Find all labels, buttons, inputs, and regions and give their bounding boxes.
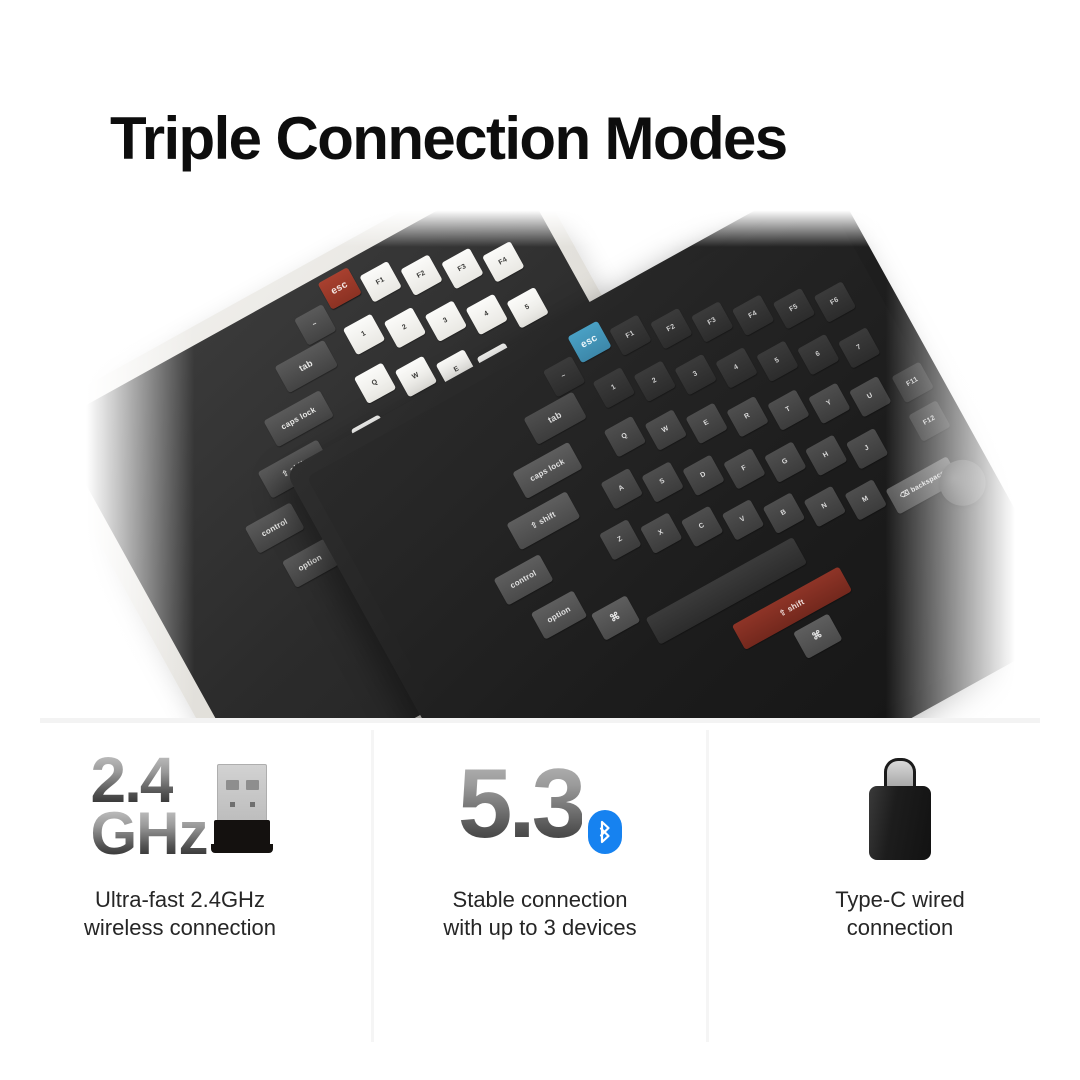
keycap: F3 xyxy=(691,301,734,343)
keycap-control-black: control xyxy=(494,554,554,605)
feature-row: 2.4 GHz Ultra-fast 2.4GHz wireless conne… xyxy=(0,740,1080,1040)
keycap-tab-black: tab xyxy=(523,392,587,445)
keycap: F2 xyxy=(400,254,443,296)
keycap: U xyxy=(849,376,892,418)
feature-art-bluetooth: 5.3 xyxy=(458,740,622,860)
usb-a-dongle-icon xyxy=(214,764,270,856)
keycap-capslock-black: caps lock xyxy=(512,442,583,499)
keycap: R xyxy=(726,396,769,438)
usb-c-plug-icon xyxy=(869,758,931,860)
keycap: 2 xyxy=(384,307,427,349)
keycap: M xyxy=(844,479,887,521)
keycap: 4 xyxy=(465,294,508,336)
value-24ghz-unit: GHz xyxy=(91,808,208,860)
keycap: N xyxy=(804,486,847,528)
feature-art-type-c xyxy=(869,740,931,860)
keycap: F xyxy=(723,448,766,490)
keycap: A xyxy=(600,468,643,510)
feature-wifi-24ghz: 2.4 GHz Ultra-fast 2.4GHz wireless conne… xyxy=(0,740,360,1040)
keycap: F4 xyxy=(732,294,775,336)
keycap: F5 xyxy=(773,288,816,330)
section-divider-horizontal xyxy=(40,718,1040,723)
keycap: 3 xyxy=(425,300,468,342)
keycap: S xyxy=(641,461,684,503)
keycap: 7 xyxy=(838,327,881,369)
keycap-control-white: control xyxy=(245,502,305,553)
keycap: W xyxy=(645,409,688,451)
keycap: 3 xyxy=(674,354,717,396)
keycap: 1 xyxy=(593,367,636,409)
usb-a-foot xyxy=(211,844,273,853)
keycap: V xyxy=(722,499,765,541)
keycap: D xyxy=(682,455,725,497)
page-title: Triple Connection Modes xyxy=(110,104,787,173)
keycap-command-black-right: ⌘ xyxy=(793,613,843,659)
keycap: Q xyxy=(354,362,397,404)
keycap: F3 xyxy=(441,248,484,290)
keycap: T xyxy=(767,389,810,431)
keycap: Z xyxy=(599,519,642,561)
keycap: X xyxy=(640,512,683,554)
keycap: F1 xyxy=(359,261,402,303)
keycap: F2 xyxy=(650,308,693,350)
feature-caption-type-c: Type-C wired connection xyxy=(835,886,965,942)
feature-caption-24ghz: Ultra-fast 2.4GHz wireless connection xyxy=(84,886,276,942)
feature-caption-bluetooth: Stable connection with up to 3 devices xyxy=(443,886,636,942)
usb-c-shell xyxy=(869,786,931,860)
keycap: G xyxy=(764,441,807,483)
bluetooth-icon xyxy=(588,810,622,854)
keycap: 6 xyxy=(797,334,840,376)
value-24ghz: 2.4 GHz xyxy=(91,753,208,860)
keycap: F6 xyxy=(814,281,857,323)
keycap: E xyxy=(685,403,728,445)
keycap-esc-white-accent: esc xyxy=(318,267,362,310)
usb-a-dot-right xyxy=(250,802,255,807)
keycap: C xyxy=(681,506,724,548)
feature-type-c: Type-C wired connection xyxy=(720,740,1080,1040)
keycap: B xyxy=(763,492,806,534)
usb-a-slot-left xyxy=(226,780,239,790)
usb-a-dot-left xyxy=(230,802,235,807)
keycap: F4 xyxy=(482,241,525,283)
keycap: 4 xyxy=(715,347,758,389)
keycap-tab-white: tab xyxy=(275,340,339,393)
feature-art-24ghz: 2.4 GHz xyxy=(91,740,270,860)
keycap: H xyxy=(805,435,848,477)
keycap-command-black: ⌘ xyxy=(591,595,641,641)
keycap: J xyxy=(846,428,889,470)
keycap: 5 xyxy=(756,340,799,382)
keycap: ~ xyxy=(543,356,586,398)
keycap: 5 xyxy=(506,287,549,329)
keycap-shift-black: ⇧ shift xyxy=(506,491,580,550)
keycap: ~ xyxy=(294,304,337,346)
keycap: Q xyxy=(604,416,647,458)
value-bluetooth-version: 5.3 xyxy=(458,747,582,860)
keycap: 2 xyxy=(634,360,677,402)
keycap-capslock-white: caps lock xyxy=(263,390,334,447)
feature-bluetooth-53: 5.3 Stable connection with up to 3 devic… xyxy=(360,740,720,1040)
hero-product-image: esc esc ~ F1 F2 F3 F4 1 2 3 4 5 tab Q W … xyxy=(0,200,1080,722)
keycap: 1 xyxy=(343,314,386,356)
keycap: Y xyxy=(808,383,851,425)
keycap: F1 xyxy=(609,314,652,356)
usb-a-metal-shell xyxy=(217,764,267,822)
keycap-option-black: option xyxy=(531,590,588,640)
usb-a-slot-right xyxy=(246,780,259,790)
